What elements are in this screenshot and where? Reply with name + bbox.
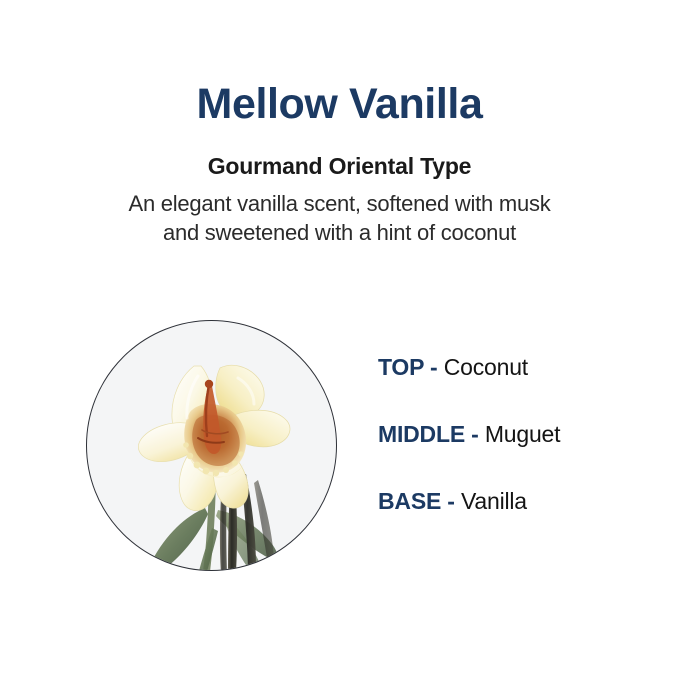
note-row: BASE - Vanilla: [378, 490, 668, 513]
note-row: MIDDLE - Muguet: [378, 423, 668, 446]
note-value-middle: Muguet: [485, 421, 561, 447]
scent-description-line-2: and sweetened with a hint of coconut: [0, 218, 679, 248]
note-label-base: BASE -: [378, 488, 461, 514]
note-value-top: Coconut: [444, 354, 528, 380]
note-value-base: Vanilla: [461, 488, 527, 514]
page-title: Mellow Vanilla: [0, 82, 679, 127]
note-label-top: TOP -: [378, 354, 444, 380]
note-row: TOP - Coconut: [378, 356, 668, 379]
fragrance-notes-list: TOP - Coconut MIDDLE - Muguet BASE - Van…: [378, 356, 668, 513]
fragrance-info-card: Mellow Vanilla Gourmand Oriental Type An…: [0, 0, 679, 679]
content-area: TOP - Coconut MIDDLE - Muguet BASE - Van…: [0, 318, 679, 679]
medallion-disc: [86, 320, 337, 571]
scent-description-line-1: An elegant vanilla scent, softened with …: [0, 189, 679, 219]
header: Mellow Vanilla Gourmand Oriental Type An…: [0, 82, 679, 248]
scent-description: An elegant vanilla scent, softened with …: [0, 189, 679, 248]
scent-type-label: Gourmand Oriental Type: [0, 153, 679, 181]
flower-medallion: [86, 320, 339, 573]
note-label-middle: MIDDLE -: [378, 421, 485, 447]
